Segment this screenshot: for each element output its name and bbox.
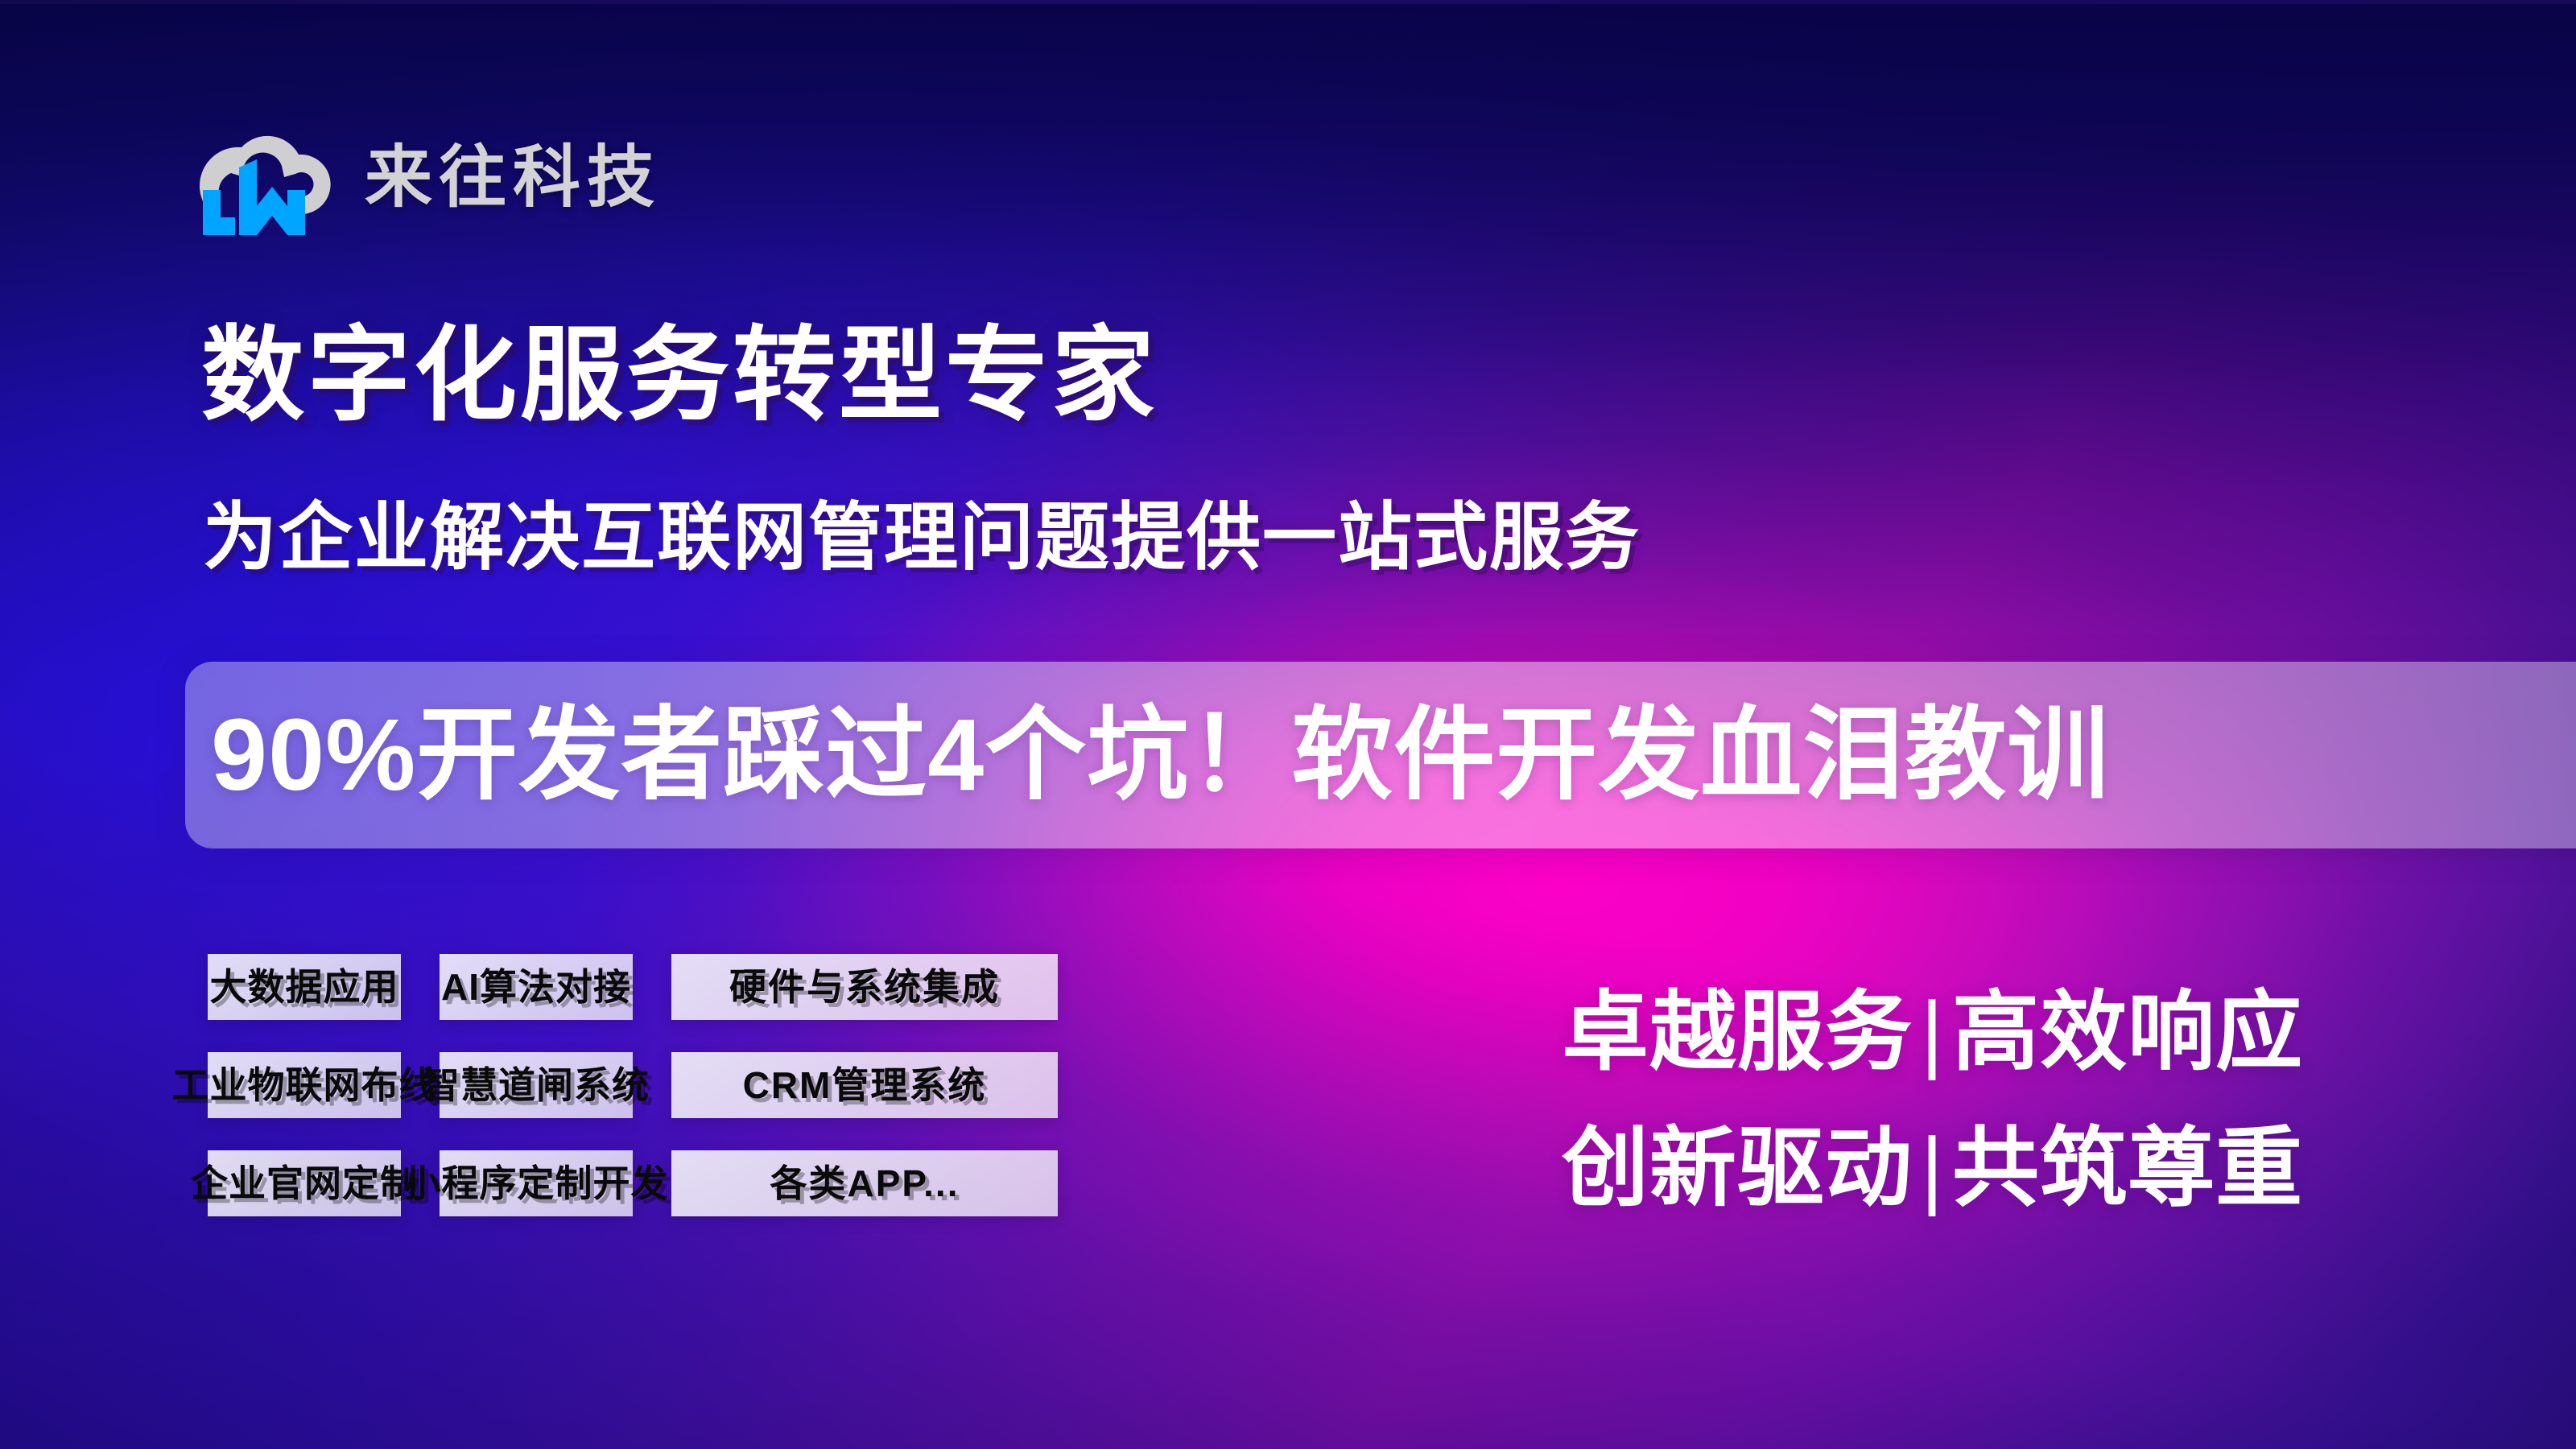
slogan-right: 高效响应 [1952, 983, 2303, 1080]
service-chip[interactable]: CRM管理系统 [671, 1052, 1058, 1118]
brand-name: 来往科技 [365, 143, 661, 211]
service-chip[interactable]: 各类APP... [671, 1150, 1058, 1216]
service-chip[interactable]: 智慧道闸系统 [440, 1052, 633, 1118]
banner-content: 来往科技 数字化服务转型专家 为企业解决互联网管理问题提供一站式服务 90%开发… [0, 0, 2576, 1449]
service-chip-label: 小程序定制开发 [404, 1165, 669, 1202]
service-chip-label: 硬件与系统集成 [729, 968, 1000, 1005]
service-chip-label: AI算法对接 [441, 968, 631, 1005]
brand-logo[interactable]: 来往科技 [197, 113, 661, 242]
service-chip-label: CRM管理系统 [743, 1067, 987, 1104]
service-chip[interactable]: AI算法对接 [440, 954, 633, 1020]
slogan-group: 卓越服务|高效响应 创新驱动|共筑尊重 [1562, 984, 2303, 1217]
slogan-separator: | [1921, 1120, 1944, 1217]
service-chip-label: 智慧道闸系统 [423, 1067, 650, 1104]
slogan-line: 卓越服务|高效响应 [1562, 984, 2303, 1081]
highlight-banner-text: 90%开发者踩过4个坑！软件开发血泪教训 [211, 704, 2109, 806]
slogan-left: 卓越服务 [1562, 983, 1913, 1080]
banner-canvas: 来往科技 数字化服务转型专家 为企业解决互联网管理问题提供一站式服务 90%开发… [0, 0, 2576, 1449]
page-title: 数字化服务转型专家 [201, 320, 1158, 431]
service-chip-label: 企业官网定制 [191, 1165, 418, 1202]
slogan-line: 创新驱动|共筑尊重 [1562, 1120, 2303, 1217]
slogan-right: 共筑尊重 [1952, 1119, 2303, 1216]
slogan-separator: | [1921, 984, 1944, 1081]
service-chip[interactable]: 小程序定制开发 [440, 1150, 633, 1216]
service-chip[interactable]: 硬件与系统集成 [671, 954, 1058, 1020]
service-chip[interactable]: 工业物联网布线 [208, 1052, 401, 1118]
highlight-banner: 90%开发者踩过4个坑！软件开发血泪教训 [185, 662, 2576, 848]
cloud-lw-logo-icon [197, 113, 336, 242]
service-chip-label: 各类APP... [770, 1165, 960, 1202]
service-chip-label: 工业物联网布线 [172, 1067, 437, 1104]
service-chip[interactable]: 企业官网定制 [208, 1150, 401, 1216]
service-chip-grid: 大数据应用 AI算法对接 硬件与系统集成 工业物联网布线 智慧道闸系统 CRM管… [208, 954, 1058, 1216]
slogan-left: 创新驱动 [1562, 1119, 1913, 1216]
service-chip-label: 大数据应用 [210, 968, 399, 1005]
service-chip[interactable]: 大数据应用 [208, 954, 401, 1020]
page-subtitle: 为企业解决互联网管理问题提供一站式服务 [203, 497, 1641, 579]
